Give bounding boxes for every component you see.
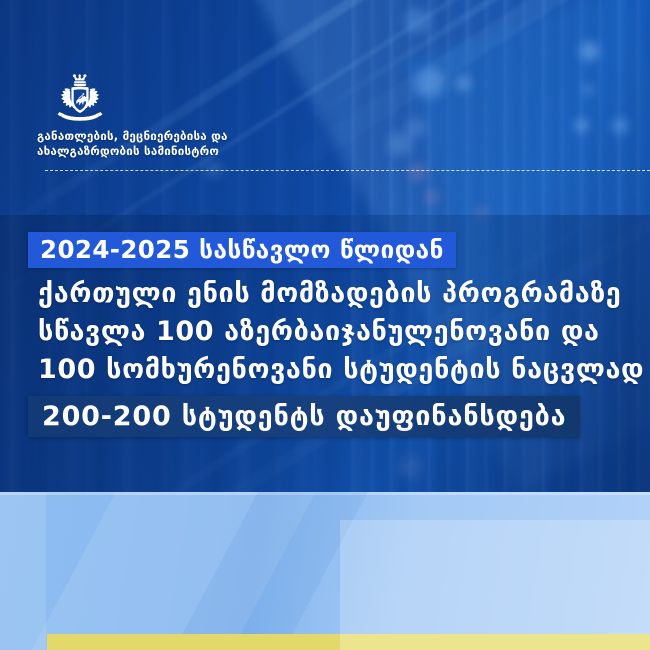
- body-text: ქართული ენის მომზადების პროგრამაზე სწავლ…: [38, 275, 628, 389]
- ministry-name-line-2: ახალგაზრდობის სამინისტრო: [37, 144, 337, 159]
- footer-shape-left: [0, 492, 46, 650]
- ministry-name-line-1: განათლების, მეცნიერებისა და: [37, 129, 337, 144]
- poster-header: განათლების, მეცნიერებისა და ახალგაზრდობი…: [0, 0, 650, 215]
- coat-of-arms-icon: [49, 72, 111, 128]
- emphasis-text: 200-200 სტუდენტს დაუფინანსდება: [42, 403, 566, 430]
- body-line-1: ქართული ენის მომზადების პროგრამაზე: [38, 275, 628, 313]
- poster-footer: [0, 492, 650, 650]
- body-line-3: 100 სომხურენოვანი სტუდენტის ნაცვლად: [38, 351, 628, 389]
- emphasis-highlight-bar: 200-200 სტუდენტს დაუფინანსდება: [28, 396, 580, 437]
- headline-highlight-bar: 2024-2025 სასწავლო წლიდან: [28, 232, 456, 268]
- footer-shape-c: [340, 520, 650, 650]
- body-line-2: სწავლა 100 აზერბაიჯანულენოვანი და: [38, 313, 628, 351]
- accent-bar-yellow-light: [340, 634, 650, 650]
- headline-text: 2024-2025 სასწავლო წლიდან: [40, 238, 444, 263]
- ministry-name: განათლების, მეცნიერებისა და ახალგაზრდობი…: [37, 129, 337, 158]
- poster-root: განათლების, მეცნიერებისა და ახალგაზრდობი…: [0, 0, 650, 650]
- header-divider: [45, 170, 650, 171]
